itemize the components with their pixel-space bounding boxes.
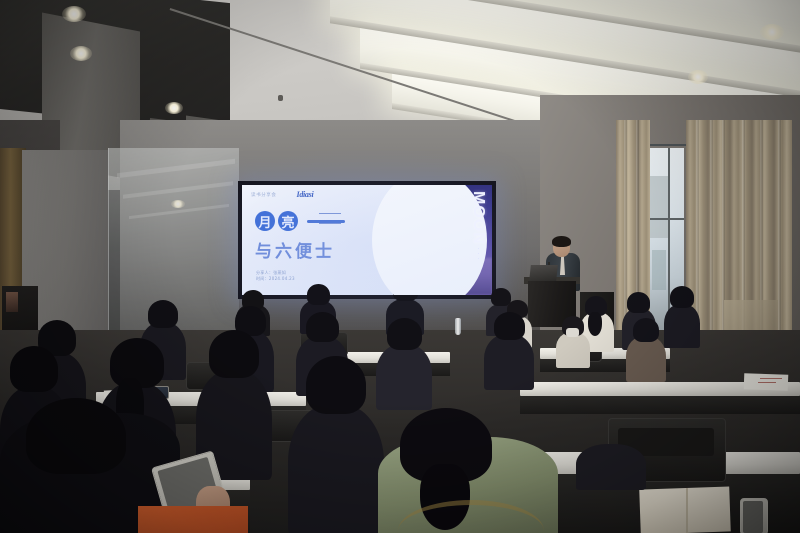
glass-downlight-reflection [171, 200, 185, 208]
audience-hair [209, 330, 259, 378]
list-item [626, 318, 666, 382]
list-item [556, 316, 590, 368]
audience-hair [670, 286, 694, 308]
glass-reflection-2 [123, 181, 233, 199]
sprinkler-icon-1 [278, 95, 283, 101]
face-mask-icon [566, 328, 579, 337]
audience-body [664, 304, 700, 348]
slide-title-char-1: 月 [255, 211, 275, 231]
audience-hair [306, 312, 339, 342]
book-spine [686, 488, 688, 533]
slide-tagline: 读书分享会 [251, 192, 277, 198]
audience-hair [387, 318, 422, 350]
audience-hair [306, 356, 366, 414]
list-item [484, 312, 534, 390]
orange-notebook [138, 506, 248, 533]
audience-hair [633, 318, 659, 342]
slide-side-word: MOON [469, 191, 487, 245]
downlight-icon-2 [70, 46, 92, 61]
audience-body [484, 334, 534, 390]
curtain-fold [710, 120, 713, 356]
audience-hair [494, 312, 525, 340]
list-item [288, 356, 384, 533]
lecture-hall-photo: MOON ··· 读书分享会 Idiasi 月 亮 与六便士 分享人：张燕如 时… [0, 0, 800, 533]
open-book [639, 486, 731, 533]
downlight-icon-1 [62, 6, 86, 22]
slide-title-decoration [319, 213, 341, 224]
audience-hair [148, 300, 178, 328]
slide-side-dots: ··· [474, 247, 484, 262]
presenter-laptop [529, 265, 558, 281]
cabinet-poster [6, 292, 18, 312]
glass-reflection-1 [117, 159, 235, 178]
downlight-icon-9 [688, 70, 708, 84]
smartphone-screen [743, 501, 763, 533]
water-bottle [455, 318, 461, 335]
audience-ponytail [588, 312, 602, 336]
projection-screen: MOON ··· 读书分享会 Idiasi 月 亮 与六便士 分享人：张燕如 时… [242, 185, 492, 295]
audience-body [288, 404, 384, 533]
list-item [664, 286, 700, 348]
slide-title-char-2: 亮 [278, 211, 298, 231]
handout-red-mark [760, 378, 782, 379]
list-item [376, 318, 432, 410]
list-item [576, 430, 646, 490]
slide-brand-logo: Idiasi [297, 190, 314, 199]
presenter-hair [552, 236, 571, 247]
audience-hair [26, 398, 126, 474]
slide-meta: 分享人：张燕如 时间：2024.04.23 [256, 270, 295, 282]
audience-body [576, 444, 646, 490]
downlight-icon-3 [165, 102, 183, 114]
audience-body [626, 336, 666, 382]
slide-meta-date: 时间：2024.04.23 [256, 276, 295, 282]
slide-subtitle: 与六便士 [255, 237, 335, 262]
handout-red-mark [758, 382, 776, 383]
desk-front-mid-right [520, 396, 800, 414]
audience-hair [307, 284, 330, 305]
audience-hair [627, 292, 650, 313]
audience-body [556, 332, 590, 368]
downlight-icon-8 [760, 24, 784, 40]
audience-body [376, 344, 432, 410]
audience-hair [10, 346, 58, 392]
